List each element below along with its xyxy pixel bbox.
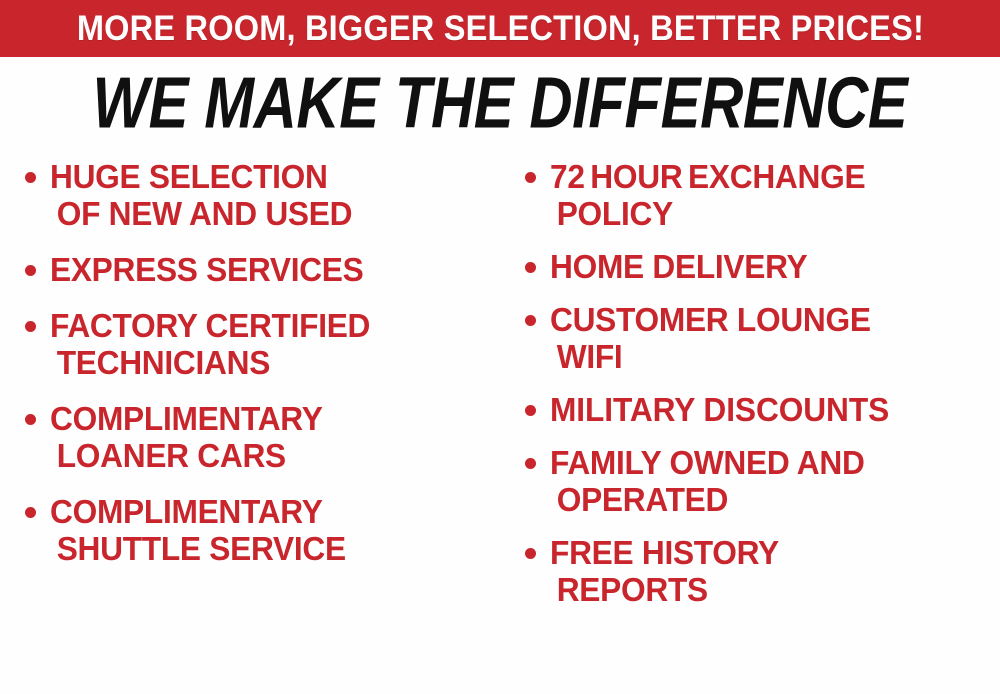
list-item-line-1: EXPRESS SERVICES	[50, 251, 486, 288]
benefits-columns: HUGE SELECTION OF NEW AND USED EXPRESS S…	[0, 158, 1000, 694]
bullet-dot-icon	[525, 172, 536, 183]
list-item-line-1: HUGE SELECTION	[50, 158, 486, 195]
list-item-line-1: HOME DELIVERY	[550, 248, 982, 285]
list-item-text: MILITARY DISCOUNTS	[550, 391, 1000, 428]
promo-poster: MORE ROOM, BIGGER SELECTION, BETTER PRIC…	[0, 0, 1000, 694]
list-item-text: FREE HISTORY REPORTS	[550, 534, 1000, 608]
list-item-line-1: COMPLIMENTARY	[50, 400, 486, 437]
list-item-line-2: OF NEW AND USED	[50, 195, 486, 232]
list-item-line-1: 72 HOUR EXCHANGE	[550, 158, 982, 195]
top-banner: MORE ROOM, BIGGER SELECTION, BETTER PRIC…	[0, 0, 1000, 57]
list-item-text: CUSTOMER LOUNGE WIFI	[550, 301, 1000, 375]
list-item-line-2: OPERATED	[550, 481, 982, 518]
list-item: EXPRESS SERVICES	[14, 251, 504, 288]
list-item-text: COMPLIMENTARY LOANER CARS	[50, 400, 504, 474]
list-item: HUGE SELECTION OF NEW AND USED	[14, 158, 504, 232]
list-item: FAMILY OWNED AND OPERATED	[514, 444, 1000, 518]
list-item: HOME DELIVERY	[514, 248, 1000, 285]
bullet-dot-icon	[525, 458, 536, 469]
list-item: FACTORY CERTIFIED TECHNICIANS	[14, 307, 504, 381]
benefits-column-left: HUGE SELECTION OF NEW AND USED EXPRESS S…	[14, 158, 504, 586]
list-item: 72 HOUR EXCHANGE POLICY	[514, 158, 1000, 232]
main-headline: WE MAKE THE DIFFERENCE	[0, 66, 1000, 140]
list-item-text: 72 HOUR EXCHANGE POLICY	[550, 158, 1000, 232]
list-item-line-1: COMPLIMENTARY	[50, 493, 486, 530]
banner-headline-text: MORE ROOM, BIGGER SELECTION, BETTER PRIC…	[76, 11, 923, 46]
list-item-text: HUGE SELECTION OF NEW AND USED	[50, 158, 504, 232]
bullet-dot-icon	[525, 548, 536, 559]
list-item-line-1: FREE HISTORY	[550, 534, 982, 571]
list-item-line-2: POLICY	[550, 195, 982, 232]
main-headline-text: WE MAKE THE DIFFERENCE	[93, 64, 908, 142]
list-item: MILITARY DISCOUNTS	[514, 391, 1000, 428]
list-item: CUSTOMER LOUNGE WIFI	[514, 301, 1000, 375]
bullet-dot-icon	[25, 172, 36, 183]
benefits-column-right: 72 HOUR EXCHANGE POLICY HOME DELIVERY CU…	[514, 158, 1000, 624]
list-item-text: HOME DELIVERY	[550, 248, 1000, 285]
list-item: FREE HISTORY REPORTS	[514, 534, 1000, 608]
list-item-line-2: TECHNICIANS	[50, 344, 486, 381]
list-item-line-2: REPORTS	[550, 571, 982, 608]
bullet-dot-icon	[25, 507, 36, 518]
list-item-line-1: MILITARY DISCOUNTS	[550, 391, 982, 428]
list-item-text: FAMILY OWNED AND OPERATED	[550, 444, 1000, 518]
list-item-line-2: LOANER CARS	[50, 437, 486, 474]
list-item-text: FACTORY CERTIFIED TECHNICIANS	[50, 307, 504, 381]
bullet-dot-icon	[25, 265, 36, 276]
list-item-text: COMPLIMENTARY SHUTTLE SERVICE	[50, 493, 504, 567]
list-item: COMPLIMENTARY LOANER CARS	[14, 400, 504, 474]
list-item-line-2: SHUTTLE SERVICE	[50, 530, 486, 567]
bullet-dot-icon	[525, 315, 536, 326]
list-item-line-1: CUSTOMER LOUNGE	[550, 301, 982, 338]
bullet-dot-icon	[525, 405, 536, 416]
bullet-dot-icon	[25, 414, 36, 425]
list-item-line-2: WIFI	[550, 338, 982, 375]
list-item-line-1: FAMILY OWNED AND	[550, 444, 982, 481]
bullet-dot-icon	[525, 262, 536, 273]
list-item: COMPLIMENTARY SHUTTLE SERVICE	[14, 493, 504, 567]
list-item-line-1: FACTORY CERTIFIED	[50, 307, 486, 344]
list-item-text: EXPRESS SERVICES	[50, 251, 504, 288]
bullet-dot-icon	[25, 321, 36, 332]
